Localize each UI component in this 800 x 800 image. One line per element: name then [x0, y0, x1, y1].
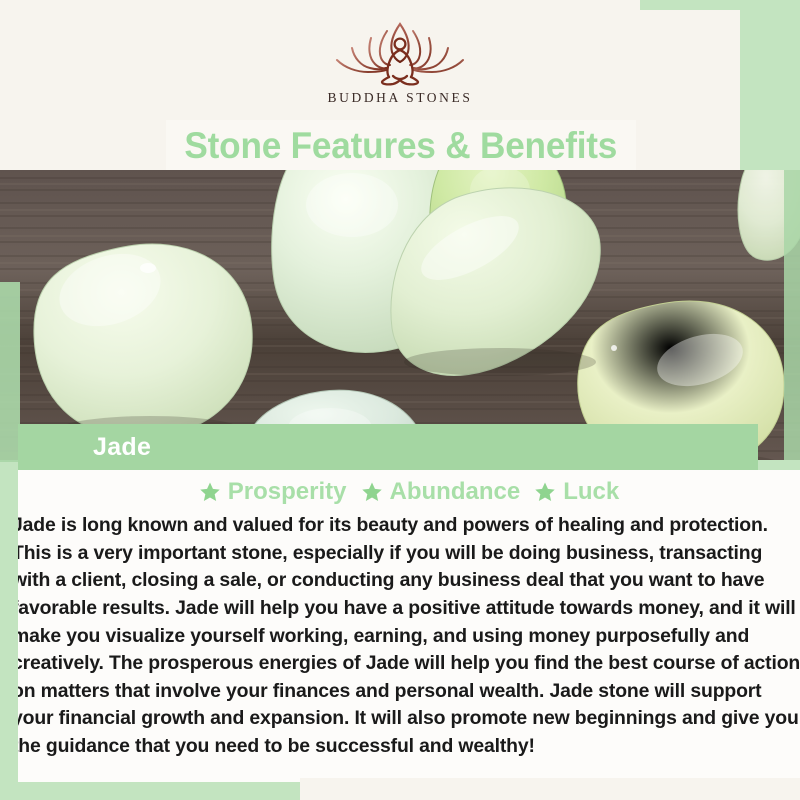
stone-description: Jade is long known and valued for its be… — [12, 512, 800, 761]
cream-panel-bottom-right — [300, 778, 800, 800]
benefit-label: Abundance — [390, 478, 521, 506]
green-accent-bottom-left — [0, 470, 18, 782]
green-accent-left — [0, 282, 20, 462]
content-panel: Prosperity Abundance Luck Jade is long k… — [18, 470, 800, 782]
brand-name: BUDDHA STONES — [328, 90, 473, 106]
star-icon — [199, 481, 221, 503]
stone-name-band: Jade — [18, 424, 758, 470]
infographic-card: BUDDHA STONES Stone Features & Benefits — [0, 0, 800, 800]
benefits-row: Prosperity Abundance Luck — [18, 478, 800, 506]
star-icon — [361, 481, 383, 503]
benefit-label: Prosperity — [228, 478, 347, 506]
stone-name: Jade — [93, 433, 151, 462]
jade-stones-photo — [0, 170, 800, 460]
lotus-meditation-icon — [325, 18, 475, 88]
benefit-label: Luck — [563, 478, 619, 506]
page-title: Stone Features & Benefits — [185, 125, 618, 167]
benefit-item: Prosperity — [199, 478, 347, 506]
green-accent-right — [784, 170, 800, 460]
title-banner: Stone Features & Benefits — [166, 120, 636, 172]
brand-logo: BUDDHA STONES — [0, 18, 800, 118]
benefit-item: Luck — [534, 478, 619, 506]
benefit-item: Abundance — [361, 478, 521, 506]
star-icon — [534, 481, 556, 503]
